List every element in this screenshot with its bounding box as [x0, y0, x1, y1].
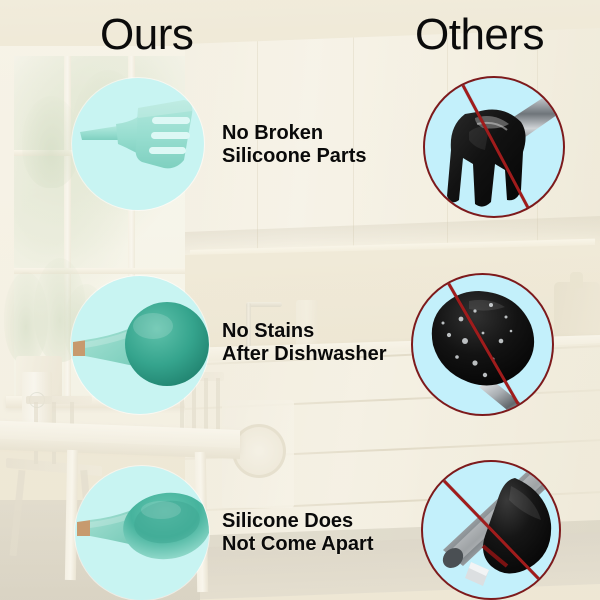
others-circle-broken-turner	[423, 76, 565, 218]
feature-label-3: Silicone Does Not Come Apart	[222, 510, 373, 556]
ours-circle-spoon	[75, 466, 209, 600]
feature-label-1-line1: No Broken	[222, 122, 367, 145]
others-circle-detached-head	[421, 460, 561, 600]
feature-label-2-line2: After Dishwasher	[222, 343, 387, 366]
page-title-ours: Ours	[100, 13, 193, 57]
infographic-canvas: Ours Others No Bro	[0, 0, 600, 600]
feature-label-2: No Stains After Dishwasher	[222, 320, 387, 366]
feature-label-3-line1: Silicone Does	[222, 510, 373, 533]
window-mullion-horizontal	[14, 268, 186, 274]
ours-circle-ladle	[71, 276, 209, 414]
cutting-board-handle	[570, 272, 583, 288]
feature-label-1-line2: Silicoone Parts	[222, 145, 367, 168]
page-title-others: Others	[415, 13, 544, 57]
spoon-icon	[75, 466, 209, 600]
faucet-arm	[246, 302, 282, 307]
feature-label-1: No Broken Silicoone Parts	[222, 122, 367, 168]
feature-label-3-line2: Not Come Apart	[222, 533, 373, 556]
ladle-icon	[71, 276, 209, 414]
washing-machine-door	[232, 424, 286, 478]
ours-circle-slotted-turner	[72, 78, 204, 210]
others-circle-stained-ladle	[411, 273, 554, 416]
slotted-turner-icon	[72, 78, 204, 210]
feature-label-2-line1: No Stains	[222, 320, 387, 343]
